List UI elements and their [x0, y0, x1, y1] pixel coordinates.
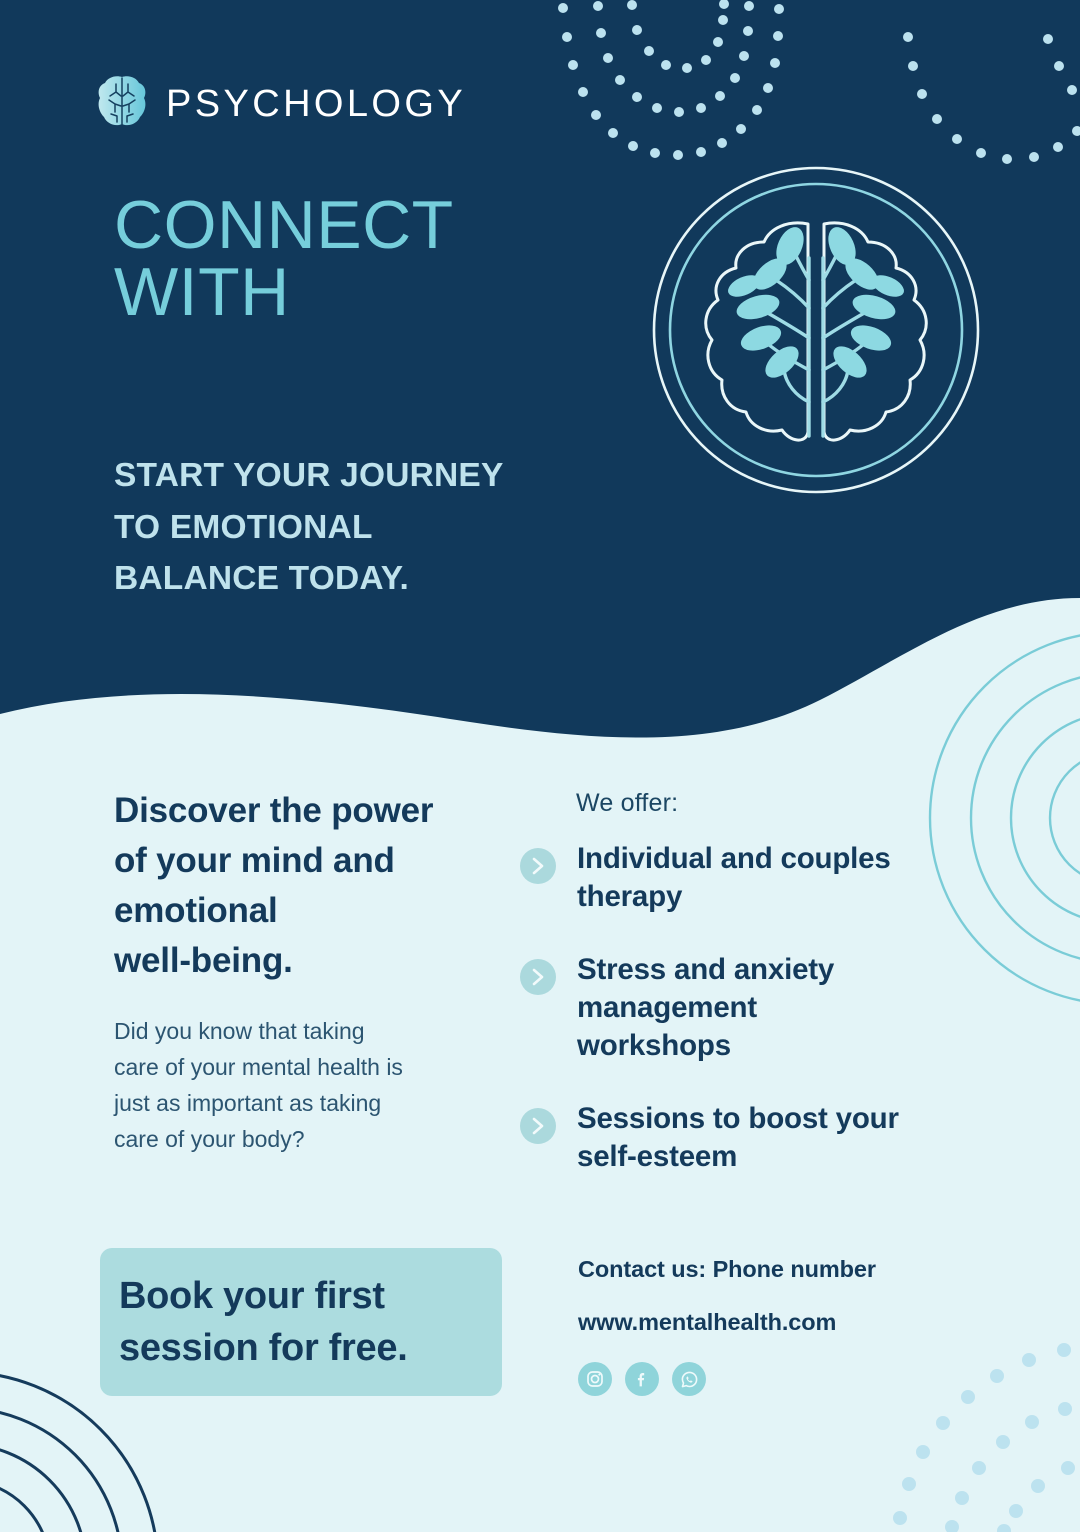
- page-subtitle: START YOUR JOURNEY TO EMOTIONAL BALANCE …: [114, 450, 504, 605]
- chevron-right-icon: [520, 959, 556, 995]
- whatsapp-icon[interactable]: [672, 1362, 706, 1396]
- offers-list: Individual and couples therapy Stress an…: [520, 840, 980, 1210]
- social-links: [578, 1362, 876, 1396]
- offer-label: Sessions to boost your self-esteem: [577, 1100, 899, 1177]
- chevron-right-icon: [520, 1108, 556, 1144]
- offer-label: Stress and anxiety management workshops: [577, 951, 834, 1066]
- book-session-cta-label: Book your first session for free.: [100, 1270, 407, 1375]
- page-title: CONNECT WITH: [114, 192, 454, 327]
- instagram-icon[interactable]: [578, 1362, 612, 1396]
- body-paragraph: Did you know that taking care of your me…: [114, 1013, 514, 1157]
- contact-block: Contact us: Phone number www.mentalhealt…: [578, 1256, 876, 1396]
- contact-phone: Contact us: Phone number: [578, 1256, 876, 1283]
- lead-heading: Discover the power of your mind and emot…: [114, 786, 524, 986]
- brand-name: PSYCHOLOGY: [166, 85, 466, 123]
- brain-icon: [96, 74, 148, 133]
- contact-website[interactable]: www.mentalhealth.com: [578, 1309, 876, 1336]
- header-section: PSYCHOLOGY CONNECT WITH START YOUR JOURN…: [0, 0, 1080, 760]
- brain-tree-emblem-icon: [648, 162, 984, 498]
- list-item: Individual and couples therapy: [520, 840, 980, 917]
- chevron-right-icon: [520, 848, 556, 884]
- facebook-icon[interactable]: [625, 1362, 659, 1396]
- book-session-cta[interactable]: Book your first session for free.: [100, 1248, 502, 1396]
- brand-lockup: PSYCHOLOGY: [96, 74, 466, 133]
- list-item: Sessions to boost your self-esteem: [520, 1100, 980, 1177]
- offers-title: We offer:: [576, 789, 678, 818]
- poster-root: PSYCHOLOGY CONNECT WITH START YOUR JOURN…: [0, 0, 1080, 1532]
- list-item: Stress and anxiety management workshops: [520, 951, 980, 1066]
- offer-label: Individual and couples therapy: [577, 840, 891, 917]
